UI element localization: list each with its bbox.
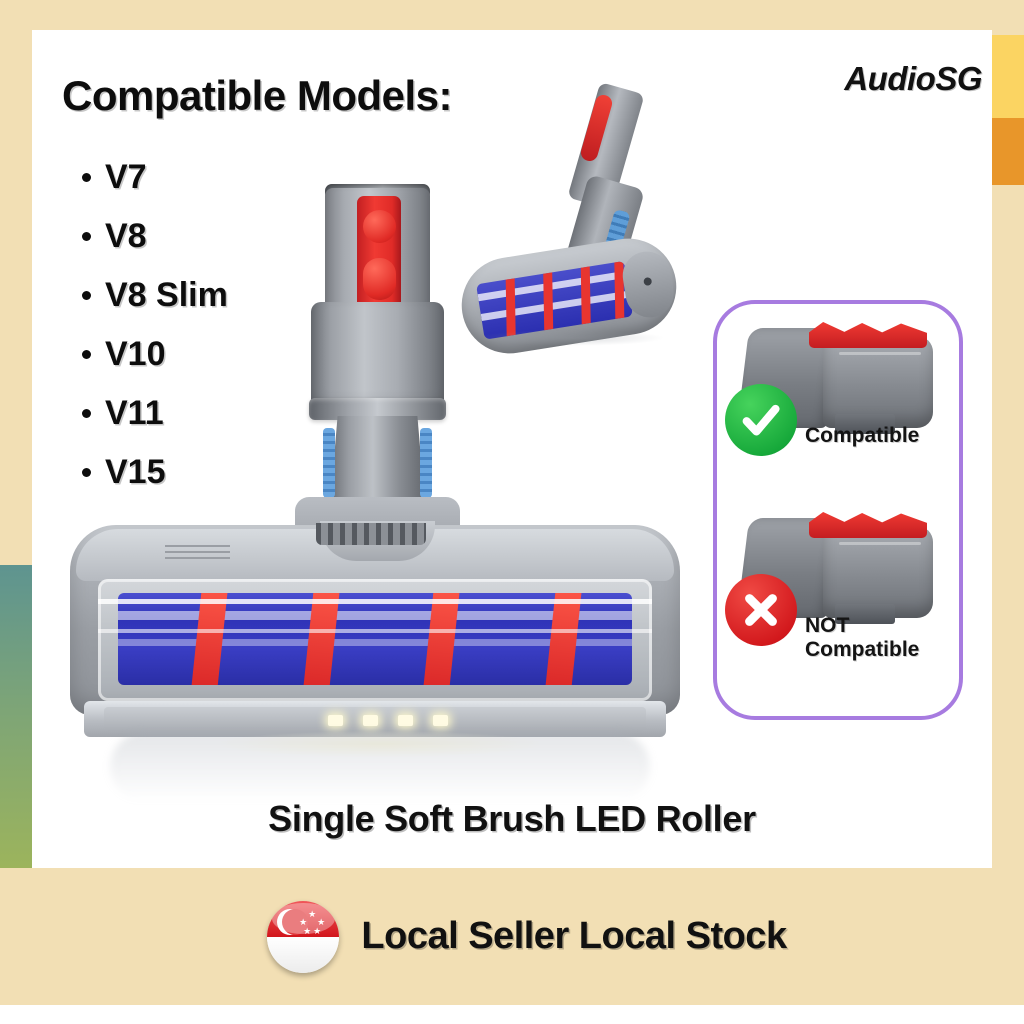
adapter-assembly [295,180,460,540]
adapter-body [311,302,444,412]
soft-roller [118,593,632,685]
blue-grip-right [420,428,432,498]
brush-head-assembly [70,525,680,740]
brand-logo: AudioSG [844,60,982,98]
compatible-label: Compatible [805,424,965,448]
compatibility-panel: Compatible NOT Compatible [713,300,963,720]
not-compatible-row: NOT Compatible [717,502,967,702]
red-bristles [809,512,927,538]
led-light [363,715,378,726]
compatible-row: Compatible [717,312,967,512]
accent-bar-orange [992,118,1024,185]
check-icon [725,384,797,456]
footer-banner: ★ ★ ★ ★ ★ Local Seller Local Stock [0,868,1024,1005]
roller-drive-cap [316,523,426,545]
barrel-seam [839,352,921,355]
not-compatible-label: NOT Compatible [805,614,965,661]
adapter-neck [330,416,425,506]
led-light [328,715,343,726]
release-button-lower [363,258,396,300]
singapore-flag-icon: ★ ★ ★ ★ ★ [267,901,339,973]
transparent-cover [98,579,652,701]
led-light [398,715,413,726]
page-title: Compatible Models: [62,72,452,120]
product-photo-main [70,180,680,780]
release-button-upper [363,210,396,243]
led-light [433,715,448,726]
product-title: Single Soft Brush LED Roller [0,798,1024,840]
surface-reflection [110,732,650,802]
head-vent-slots [165,545,230,561]
cross-icon [725,574,797,646]
footer-text: Local Seller Local Stock [361,915,786,958]
product-listing-image: AudioSG Compatible Models: V7 V8 V8 Slim… [0,0,1024,1024]
barrel-seam [839,542,921,545]
accent-bar-yellow [992,35,1024,118]
blue-grip-left [323,428,335,498]
red-bristles [809,322,927,348]
